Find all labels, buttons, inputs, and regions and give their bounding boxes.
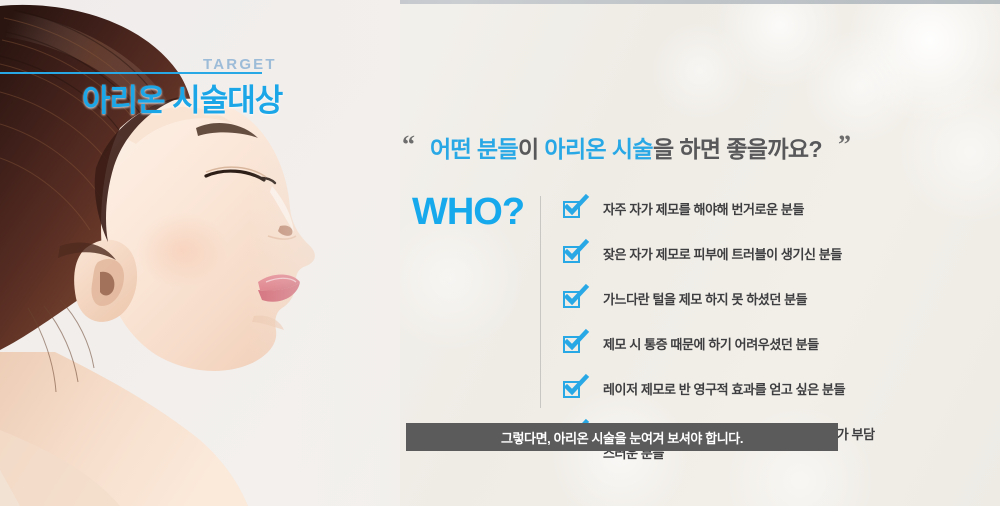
cta-banner: 그렇다면, 아리온 시술을 눈여겨 보셔야 합니다. xyxy=(406,423,838,451)
title-underline-rule xyxy=(0,72,262,74)
list-item-label: 자주 자가 제모를 해야해 번거로운 분들 xyxy=(603,200,883,219)
checkbox-checked-icon xyxy=(563,381,580,398)
quote-seg-1: 이 xyxy=(518,136,544,162)
quote-seg-0: 어떤 분들 xyxy=(430,136,518,162)
list-item: 레이저 제모로 반 영구적 효과를 얻고 싶은 분들 xyxy=(563,380,883,410)
vertical-divider xyxy=(540,196,541,408)
who-label: WHO? xyxy=(412,191,524,234)
quote-heading-text: 어떤 분들이 아리온 시술을 하면 좋을까요? xyxy=(430,130,822,164)
quote-seg-3: 을 하면 좋을까요? xyxy=(653,136,822,162)
list-item: 가느다란 털을 제모 하지 못 하셨던 분들 xyxy=(563,290,883,320)
close-quote-mark: ” xyxy=(838,130,851,160)
list-item-label: 레이저 제모로 반 영구적 효과를 얻고 싶은 분들 xyxy=(603,380,883,399)
quote-seg-2: 아리온 시술 xyxy=(544,136,653,162)
page-title: 아리온 시술대상 xyxy=(82,75,282,120)
list-item: 제모 시 통증 때문에 하기 어려우셨던 분들 xyxy=(563,335,883,365)
list-item-label: 가느다란 털을 제모 하지 못 하셨던 분들 xyxy=(603,290,883,309)
checkbox-checked-icon xyxy=(563,201,580,218)
list-item-label: 잦은 자가 제모로 피부에 트러블이 생기신 분들 xyxy=(603,245,883,264)
cta-banner-text: 그렇다면, 아리온 시술을 눈여겨 보셔야 합니다. xyxy=(501,428,743,447)
target-kicker: TARGET xyxy=(203,56,277,73)
checkbox-checked-icon xyxy=(563,336,580,353)
list-item: 잦은 자가 제모로 피부에 트러블이 생기신 분들 xyxy=(563,245,883,275)
checkbox-checked-icon xyxy=(563,246,580,263)
checkbox-checked-icon xyxy=(563,291,580,308)
quote-heading: “ 어떤 분들이 아리온 시술을 하면 좋을까요? ” xyxy=(398,128,868,170)
list-item-label: 제모 시 통증 때문에 하기 어려우셨던 분들 xyxy=(603,335,883,354)
promo-banner: TARGET 아리온 시술대상 “ 어떤 분들이 아리온 시술을 하면 좋을까요… xyxy=(0,0,1000,506)
list-item: 자주 자가 제모를 해야해 번거로운 분들 xyxy=(563,200,883,230)
open-quote-mark: “ xyxy=(402,130,415,160)
title-block: TARGET 아리온 시술대상 xyxy=(0,45,300,115)
